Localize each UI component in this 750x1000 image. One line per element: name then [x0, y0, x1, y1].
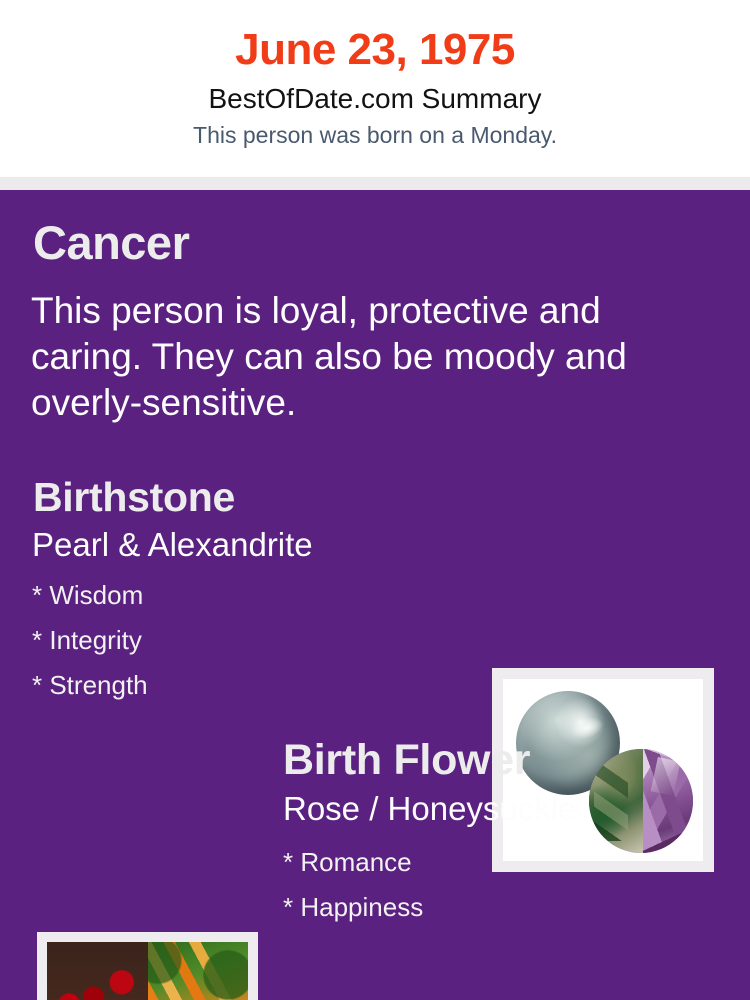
birth-flower-image — [47, 942, 248, 1000]
list-item: * Integrity — [32, 618, 148, 663]
alexandrite-icon — [589, 749, 693, 853]
birthstone-image — [503, 679, 703, 861]
rose-icon — [47, 942, 148, 1000]
zodiac-sign-title: Cancer — [33, 215, 189, 271]
birthstone-heading: Birthstone — [33, 473, 235, 521]
birthstone-traits-list: * Wisdom * Integrity * Strength — [32, 573, 148, 708]
alexandrite-rough-half — [589, 749, 643, 853]
list-item: * Romance — [283, 840, 423, 885]
born-weekday-note: This person was born on a Monday. — [0, 116, 750, 150]
birthstone-value: Pearl & Alexandrite — [32, 525, 313, 565]
header: June 23, 1975 BestOfDate.com Summary Thi… — [0, 0, 750, 177]
list-item: * Strength — [32, 663, 148, 708]
summary-panel: Cancer This person is loyal, protective … — [0, 190, 750, 1000]
list-item: * Happiness — [283, 885, 423, 930]
page-title-date: June 23, 1975 — [0, 0, 750, 76]
bestofdate-summary-card: June 23, 1975 BestOfDate.com Summary Thi… — [0, 0, 750, 1000]
header-divider — [0, 177, 750, 190]
zodiac-sign-description: This person is loyal, protective and car… — [31, 288, 651, 426]
alexandrite-faceted-half — [643, 749, 693, 853]
flower-photo-split — [47, 942, 248, 1000]
birth-flower-image-card — [37, 932, 258, 1000]
birth-flower-heading: Birth Flower — [283, 735, 530, 785]
honeysuckle-icon — [148, 942, 249, 1000]
birth-flower-traits-list: * Romance * Happiness — [283, 840, 423, 930]
list-item: * Wisdom — [32, 573, 148, 618]
birth-flower-value: Rose / Honeysuckle — [283, 789, 576, 829]
site-summary-label: BestOfDate.com Summary — [0, 76, 750, 116]
